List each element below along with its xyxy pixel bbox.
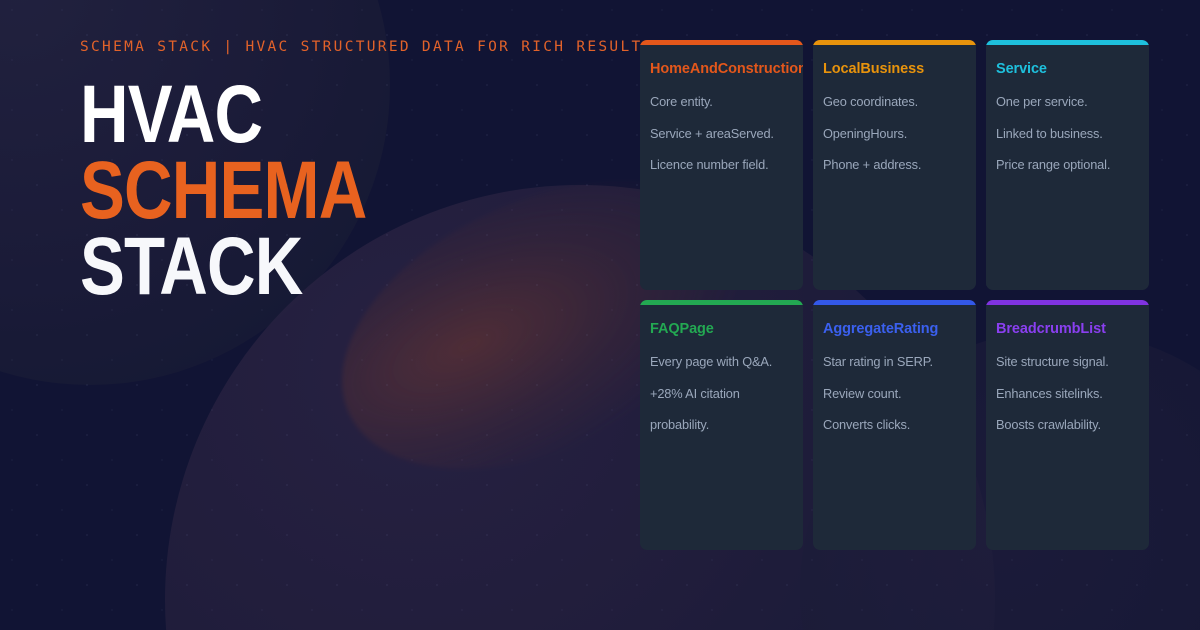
schema-card[interactable]: HomeAndConstructionBusiness Core entity.…	[640, 40, 803, 290]
card-line: Geo coordinates.	[823, 94, 963, 110]
card-accent-bar	[986, 40, 1149, 45]
page-title-line-1: HVAC	[80, 77, 572, 153]
card-accent-bar	[813, 300, 976, 305]
card-line: Boosts crawlability.	[996, 417, 1136, 433]
card-line: Core entity.	[650, 94, 790, 110]
card-line: Linked to business.	[996, 126, 1136, 142]
card-line: Licence number field.	[650, 157, 790, 173]
hero-column: SCHEMA STACK | HVAC STRUCTURED DATA FOR …	[80, 40, 680, 305]
card-line: Converts clicks.	[823, 417, 963, 433]
hero-eyebrow: SCHEMA STACK | HVAC STRUCTURED DATA FOR …	[80, 40, 680, 55]
card-body: Geo coordinates. OpeningHours. Phone + a…	[823, 94, 963, 173]
card-line: Star rating in SERP.	[823, 354, 963, 370]
card-line: Phone + address.	[823, 157, 963, 173]
card-accent-bar	[640, 300, 803, 305]
card-body: Star rating in SERP. Review count. Conve…	[823, 354, 963, 433]
card-line: Site structure signal.	[996, 354, 1136, 370]
page-title-line-2: SCHEMA	[80, 153, 572, 229]
infographic-canvas: SCHEMA STACK | HVAC STRUCTURED DATA FOR …	[0, 0, 1200, 630]
card-title: LocalBusiness	[823, 59, 963, 80]
card-title: AggregateRating	[823, 319, 963, 340]
card-accent-bar	[813, 40, 976, 45]
card-line: Enhances sitelinks.	[996, 386, 1136, 402]
schema-card-grid: HomeAndConstructionBusiness Core entity.…	[640, 40, 1150, 550]
card-line: One per service.	[996, 94, 1136, 110]
schema-card[interactable]: BreadcrumbList Site structure signal. En…	[986, 300, 1149, 550]
schema-card[interactable]: Service One per service. Linked to busin…	[986, 40, 1149, 290]
schema-card[interactable]: LocalBusiness Geo coordinates. OpeningHo…	[813, 40, 976, 290]
card-title: BreadcrumbList	[996, 319, 1136, 340]
card-title: FAQPage	[650, 319, 790, 340]
card-accent-bar	[640, 40, 803, 45]
card-line: Review count.	[823, 386, 963, 402]
card-accent-bar	[986, 300, 1149, 305]
page-title: HVAC SCHEMA STACK	[80, 77, 572, 306]
schema-card[interactable]: FAQPage Every page with Q&A. +28% AI cit…	[640, 300, 803, 550]
card-title: HomeAndConstructionBusiness	[650, 59, 790, 80]
card-body: Core entity. Service + areaServed. Licen…	[650, 94, 790, 173]
card-body: One per service. Linked to business. Pri…	[996, 94, 1136, 173]
card-line: Service + areaServed.	[650, 126, 790, 142]
schema-card[interactable]: AggregateRating Star rating in SERP. Rev…	[813, 300, 976, 550]
page-title-line-3: STACK	[80, 229, 572, 305]
card-line: Every page with Q&A.	[650, 354, 790, 370]
card-line: OpeningHours.	[823, 126, 963, 142]
card-line: +28% AI citation	[650, 386, 790, 402]
card-body: Site structure signal. Enhances sitelink…	[996, 354, 1136, 433]
card-line: Price range optional.	[996, 157, 1136, 173]
card-line: probability.	[650, 417, 790, 433]
card-title: Service	[996, 59, 1136, 80]
card-body: Every page with Q&A. +28% AI citation pr…	[650, 354, 790, 433]
